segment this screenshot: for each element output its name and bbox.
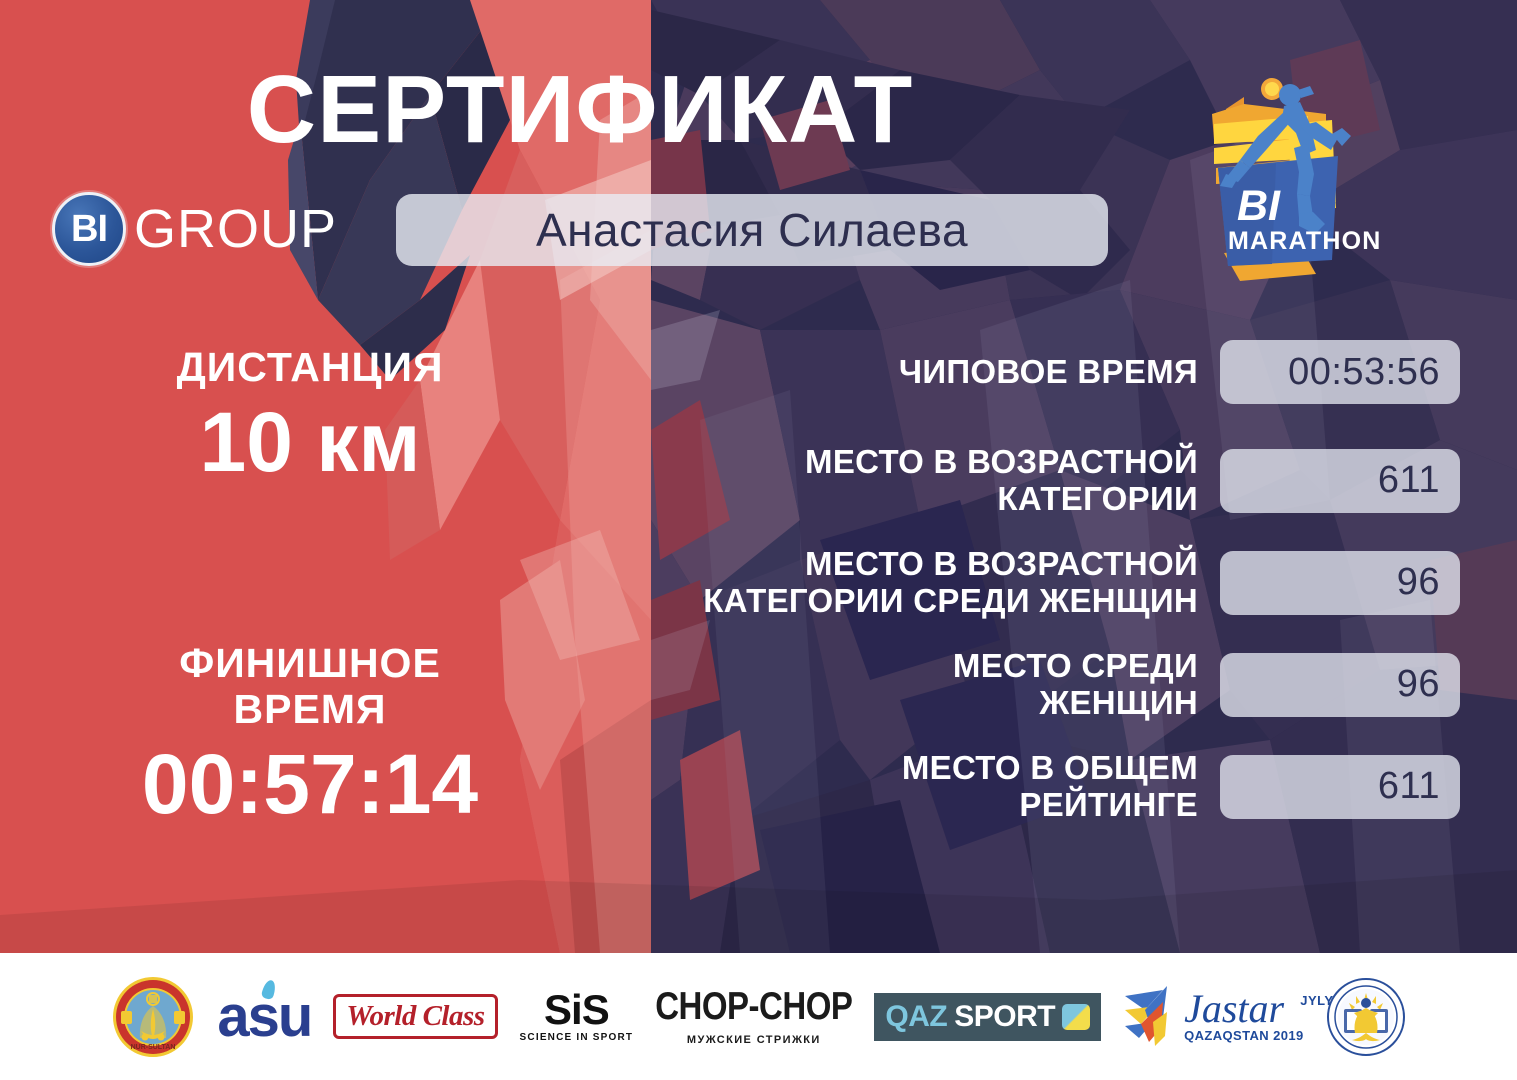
page-title: СЕРТИФИКАТ <box>0 62 1160 158</box>
chop-chop-label: CHOP-CHOP <box>655 984 852 1029</box>
participant-name: Анастасия Силаева <box>536 203 968 257</box>
sis-wrap: SiS SCIENCE IN SPORT <box>520 990 634 1043</box>
stat-label-age-category-place: МЕСТО В ВОЗРАСТНОЙ КАТЕГОРИИ <box>600 444 1220 518</box>
nur-sultan-label: NUR-SULTAN <box>131 1044 176 1051</box>
bi-marathon-logo: BI MARATHON <box>1180 68 1380 293</box>
qazsport-label-b: SPORT <box>954 1000 1055 1034</box>
jastar-sub-label: QAZAQSTAN 2019 <box>1184 1028 1304 1043</box>
qazsport-box: QAZ SPORT <box>874 993 1101 1041</box>
jastar-wrap: Jastar JYLY QAZAQSTAN 2019 <box>1123 984 1304 1050</box>
sis-label: SiS <box>520 990 634 1030</box>
sis-tagline: SCIENCE IN SPORT <box>520 1032 634 1043</box>
stat-value-age-category-place: 611 <box>1378 459 1440 502</box>
stat-label-women-place: МЕСТО СРЕДИ ЖЕНЩИН <box>600 648 1220 722</box>
qazsport-label-a: QAZ <box>885 1000 947 1034</box>
finish-time-label: ФИНИШНОЕ ВРЕМЯ <box>60 641 560 733</box>
bi-group-logo: BI GROUP <box>52 192 337 266</box>
qazsport-mark-icon <box>1062 1004 1090 1030</box>
chop-chop-tagline: МУЖСКИЕ СТРИЖКИ <box>655 1034 852 1046</box>
stat-value-women-place: 96 <box>1397 663 1440 706</box>
bi-circle-icon: BI <box>52 192 126 266</box>
stat-value-age-category-women-place: 96 <box>1397 561 1440 604</box>
world-class-label: World Class <box>346 1000 484 1033</box>
stat-label-chip-time: ЧИПОВОЕ ВРЕМЯ <box>600 354 1220 391</box>
chop-chop-wrap: CHOP-CHOP МУЖСКИЕ СТРИЖКИ <box>655 987 852 1046</box>
stat-row: МЕСТО В ОБЩЕМ РЕЙТИНГЕ 611 <box>600 750 1460 824</box>
sponsor-asu: asu <box>217 974 311 1060</box>
jastar-jyly-label: JYLY <box>1300 993 1333 1008</box>
stat-row: МЕСТО В ВОЗРАСТНОЙ КАТЕГОРИИ 611 <box>600 444 1460 518</box>
right-stats-column: ЧИПОВОЕ ВРЕМЯ 00:53:56 МЕСТО В ВОЗРАСТНО… <box>600 340 1460 838</box>
sponsor-jastar: Jastar JYLY QAZAQSTAN 2019 <box>1123 974 1304 1060</box>
sponsor-chop-chop: CHOP-CHOP МУЖСКИЕ СТРИЖКИ <box>655 974 852 1060</box>
sponsor-nur-sultan: NUR-SULTAN <box>111 974 195 1060</box>
jastar-text: Jastar JYLY QAZAQSTAN 2019 <box>1184 991 1304 1043</box>
stat-pill-chip-time: 00:53:56 <box>1220 340 1460 404</box>
stat-row: МЕСТО В ВОЗРАСТНОЙ КАТЕГОРИИ СРЕДИ ЖЕНЩИ… <box>600 546 1460 620</box>
asu-logo-text: asu <box>217 988 311 1046</box>
certificate-canvas: СЕРТИФИКАТ BI GROUP Анастасия Силаева <box>0 0 1517 1080</box>
stat-pill-age-category-place: 611 <box>1220 449 1460 513</box>
jastar-arrow-icon <box>1123 984 1181 1050</box>
stat-pill-age-category-women-place: 96 <box>1220 551 1460 615</box>
sponsor-ministry <box>1326 974 1406 1060</box>
participant-name-pill: Анастасия Силаева <box>396 194 1108 266</box>
stat-pill-overall-place: 611 <box>1220 755 1460 819</box>
sponsor-sis: SiS SCIENCE IN SPORT <box>520 974 634 1060</box>
finish-time-block: ФИНИШНОЕ ВРЕМЯ 00:57:14 <box>60 641 560 831</box>
distance-block: ДИСТАНЦИЯ 10 км <box>60 345 560 489</box>
left-stats-column: ДИСТАНЦИЯ 10 км ФИНИШНОЕ ВРЕМЯ 00:57:14 <box>60 345 560 831</box>
sponsor-bar: NUR-SULTAN asu World Class SiS SCIENCE I… <box>0 953 1517 1080</box>
stat-label-age-category-women-place: МЕСТО В ВОЗРАСТНОЙ КАТЕГОРИИ СРЕДИ ЖЕНЩИ… <box>600 546 1220 620</box>
distance-label: ДИСТАНЦИЯ <box>60 345 560 391</box>
finish-time-value: 00:57:14 <box>60 737 560 831</box>
stat-pill-women-place: 96 <box>1220 653 1460 717</box>
bi-badge-label: BI <box>71 210 107 248</box>
world-class-box: World Class <box>333 994 497 1039</box>
bi-group-label: GROUP <box>134 202 337 256</box>
stat-row: МЕСТО СРЕДИ ЖЕНЩИН 96 <box>600 648 1460 722</box>
jastar-label: Jastar <box>1184 991 1304 1027</box>
ministry-emblem-icon <box>1326 977 1406 1057</box>
nur-sultan-emblem-icon: NUR-SULTAN <box>111 975 195 1059</box>
stat-value-chip-time: 00:53:56 <box>1288 351 1440 394</box>
stat-row: ЧИПОВОЕ ВРЕМЯ 00:53:56 <box>600 340 1460 404</box>
stat-value-overall-place: 611 <box>1378 765 1440 808</box>
marathon-bi-text: BI <box>1237 182 1281 230</box>
sponsor-world-class: World Class <box>333 974 497 1060</box>
marathon-word-text: MARATHON <box>1228 227 1380 255</box>
stat-label-overall-place: МЕСТО В ОБЩЕМ РЕЙТИНГЕ <box>600 750 1220 824</box>
sponsor-qazsport: QAZ SPORT <box>874 974 1101 1060</box>
distance-value: 10 км <box>60 395 560 489</box>
